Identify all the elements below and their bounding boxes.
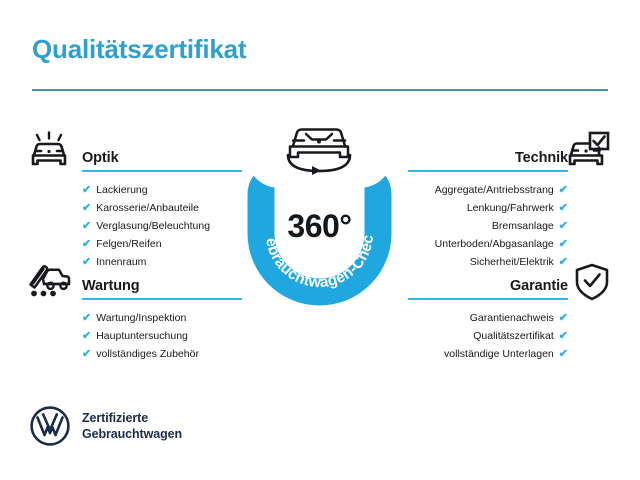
badge-value: 360°: [238, 208, 401, 245]
section-garantie-title: Garantie: [510, 278, 568, 294]
section-optik-header: Optik: [82, 143, 242, 167]
car-wrench-service-icon: [26, 259, 72, 301]
car-shine-icon: [26, 131, 72, 173]
section-wartung: Wartung ✔Wartung/Inspektion ✔Hauptunters…: [82, 271, 242, 363]
section-wartung-title: Wartung: [82, 278, 140, 294]
check-icon: ✔: [82, 203, 91, 214]
list-item: ✔vollständiges Zubehör: [82, 345, 242, 363]
section-wartung-header: Wartung: [82, 271, 242, 295]
list-item-label: Innenraum: [96, 257, 146, 268]
section-garantie-header: Garantie: [408, 271, 568, 295]
section-wartung-divider: [82, 298, 242, 300]
list-item: Sicherheit/Elektrik✔: [408, 253, 568, 271]
list-item-label: Karosserie/Anbauteile: [96, 203, 199, 214]
list-item-label: Lenkung/Fahrwerk: [467, 203, 554, 214]
check-icon: ✔: [82, 185, 91, 196]
check-icon: ✔: [559, 185, 568, 196]
check-icon: ✔: [559, 331, 568, 342]
section-technik-list: Aggregate/Antriebsstrang✔ Lenkung/Fahrwe…: [408, 181, 568, 271]
check-icon: ✔: [82, 349, 91, 360]
check-icon: ✔: [559, 257, 568, 268]
list-item-label: Wartung/Inspektion: [96, 313, 186, 324]
page-title: Qualitätszertifikat: [32, 34, 246, 65]
list-item: Garantienachweis✔: [408, 309, 568, 327]
list-item: ✔Wartung/Inspektion: [82, 309, 242, 327]
section-optik-title: Optik: [82, 150, 119, 166]
section-technik: Technik Aggregate/Antriebsstrang✔ Lenkun…: [408, 143, 568, 271]
footer-brand-text: Zertifizierte Gebrauchtwagen: [82, 410, 182, 442]
list-item-label: Verglasung/Beleuchtung: [96, 221, 210, 232]
list-item-label: Lackierung: [96, 185, 147, 196]
footer-line-1: Zertifizierte: [82, 410, 182, 426]
title-divider: [32, 89, 608, 91]
section-garantie-list: Garantienachweis✔ Qualitätszertifikat✔ v…: [408, 309, 568, 363]
list-item: Bremsanlage✔: [408, 217, 568, 235]
check-icon: ✔: [559, 221, 568, 232]
list-item: ✔Verglasung/Beleuchtung: [82, 217, 242, 235]
list-item: ✔Felgen/Reifen: [82, 235, 242, 253]
list-item-label: Bremsanlage: [492, 221, 554, 232]
list-item-label: vollständige Unterlagen: [444, 349, 554, 360]
section-optik: Optik ✔Lackierung ✔Karosserie/Anbauteile…: [82, 143, 242, 271]
check-icon: ✔: [82, 313, 91, 324]
list-item-label: Hauptuntersuchung: [96, 331, 188, 342]
list-item: vollständige Unterlagen✔: [408, 345, 568, 363]
section-optik-list: ✔Lackierung ✔Karosserie/Anbauteile ✔Verg…: [82, 181, 242, 271]
section-garantie: Garantie Garantienachweis✔ Qualitätszert…: [408, 271, 568, 363]
section-garantie-divider: [408, 298, 568, 300]
list-item: Unterboden/Abgasanlage✔: [408, 235, 568, 253]
list-item: Qualitätszertifikat✔: [408, 327, 568, 345]
check-icon: ✔: [559, 203, 568, 214]
section-technik-title: Technik: [515, 150, 568, 166]
list-item-label: Garantienachweis: [470, 313, 554, 324]
volkswagen-logo: [30, 406, 70, 446]
footer-line-2: Gebrauchtwagen: [82, 426, 182, 442]
list-item: Aggregate/Antriebsstrang✔: [408, 181, 568, 199]
car-rotate-360-icon: [276, 122, 362, 180]
check-icon: ✔: [82, 239, 91, 250]
section-technik-header: Technik: [408, 143, 568, 167]
list-item-label: Unterboden/Abgasanlage: [435, 239, 554, 250]
list-item-label: vollständiges Zubehör: [96, 349, 199, 360]
check-icon: ✔: [559, 239, 568, 250]
check-icon: ✔: [559, 313, 568, 324]
list-item-label: Qualitätszertifikat: [473, 331, 554, 342]
check-icon: ✔: [559, 349, 568, 360]
section-wartung-list: ✔Wartung/Inspektion ✔Hauptuntersuchung ✔…: [82, 309, 242, 363]
check-icon: ✔: [82, 331, 91, 342]
certificate-sheet: Qualitätszertifikat Optik ✔Lackierung: [0, 0, 640, 480]
list-item-label: Aggregate/Antriebsstrang: [435, 185, 554, 196]
car-checkbox-icon: [566, 131, 612, 173]
list-item: ✔Innenraum: [82, 253, 242, 271]
list-item: ✔Lackierung: [82, 181, 242, 199]
list-item: ✔Karosserie/Anbauteile: [82, 199, 242, 217]
list-item: ✔Hauptuntersuchung: [82, 327, 242, 345]
list-item: Lenkung/Fahrwerk✔: [408, 199, 568, 217]
check-icon: ✔: [82, 221, 91, 232]
list-item-label: Sicherheit/Elektrik: [470, 257, 554, 268]
list-item-label: Felgen/Reifen: [96, 239, 161, 250]
section-optik-divider: [82, 170, 242, 172]
check-icon: ✔: [82, 257, 91, 268]
shield-check-icon: [572, 261, 618, 303]
section-technik-divider: [408, 170, 568, 172]
